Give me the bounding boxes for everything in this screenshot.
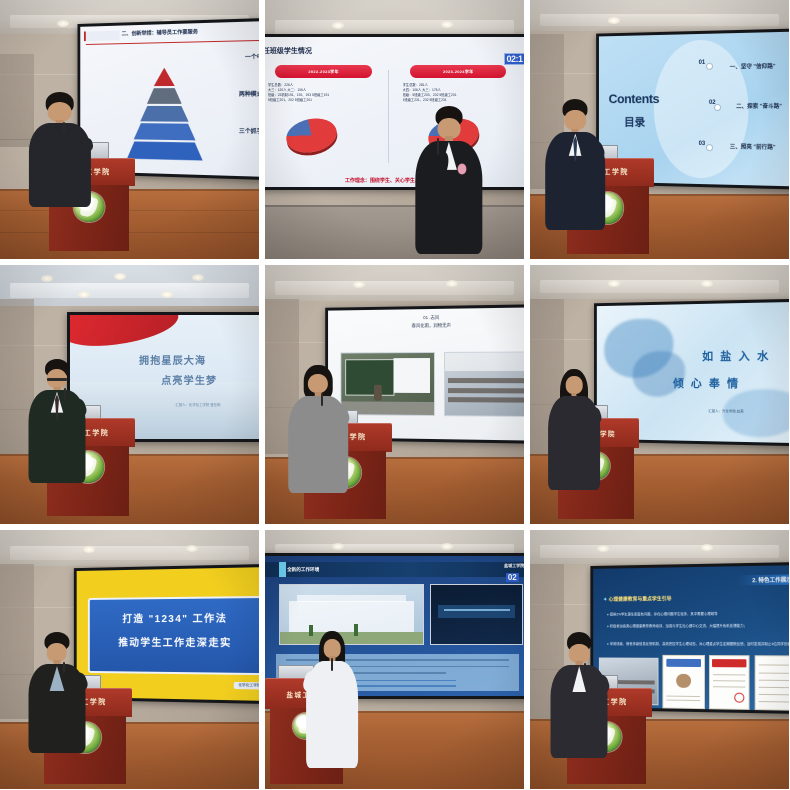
slide-line-bottom: 倾 心 奉 情 [673,376,740,392]
contents-heading-cn: 目录 [624,114,645,130]
photo-tile-7[interactable]: 打造 "1234" 工作法 推动学生工作走深走实 化学化工学院 盐城工学院 [0,530,259,789]
presenter-3 [546,106,606,230]
bullet-text: 积极参加各类心理健康教育教师培训，加强与学生社心健中心交流，大幅提升危机处理能力… [610,623,747,627]
red-ribbon-decor [70,315,181,351]
pyramid-label-3: 三个抓手 [238,127,259,136]
photo-tile-4[interactable]: 拥抱星辰大海 点亮学生梦 汇报人：化学化工学院 曹亚明 盐城工学院 [0,265,259,524]
microphone-icon [64,388,66,400]
photo-tile-8[interactable]: 全新的工作环境 盐城工学院 02 [265,530,524,789]
contents-num-3: 03 [699,141,706,147]
slide-certificate [709,655,750,709]
photo-tile-2[interactable]: 任班级学生情况 02:1 2022-2023学年 学生总数：226人 大三：12… [265,0,524,259]
slide-section-number: 01 .志风 春风化雨，润物无声 [328,313,524,331]
slide-title: 任班级学生情况 [265,46,522,56]
panel-line: 5班级工231、232 5班级工231 [403,98,517,103]
slide-logo-text: 盐城工学院 [504,563,524,569]
slide-photo-1: 二十人精神学习 [340,352,435,416]
slide-photo-2: 晨读 [444,352,524,418]
projection-screen-7: 打造 "1234" 工作法 推动学生工作走深走实 化学化工学院 [74,564,259,704]
panel-title: 2023-2024学年 [410,65,506,78]
glasses-icon [47,378,68,381]
contents-num-2: 02 [709,100,716,106]
microphone-icon [584,663,586,675]
slide-tag: 化学化工学院 [234,682,259,690]
slide-bullet-2: ▸ 积极参加各类心理健康教育教师培训，加强与学生社心健中心交流，大幅提升危机处理… [607,622,789,628]
panel-2022: 2022-2023学年 学生总数：226人 大三：120人 大二：106人 班级… [265,61,387,178]
slide-line-2: 点亮学生梦 [161,372,217,387]
photo-tile-1[interactable]: 二、创新举措：辅导员工作要服务 一个中心 两种模式 三个抓手 [0,0,259,259]
slide-ribbon-title: 2. 特色工作展示 [738,574,789,585]
slide-header-bar: 全新的工作环境 [265,562,524,577]
presenter-7 [28,639,85,753]
photo-tile-9[interactable]: 2. 特色工作展示 ✦ 心理健康教育与重点学生引导 ▸ 摸排2%学生源生家庭有问… [530,530,789,789]
panel-title: 2022-2023学年 [275,65,371,78]
section-script-text: 春风化雨，润物无声 [328,321,524,331]
slide-line-2: 推动学生工作走深走实 [77,634,259,649]
photo-tile-5[interactable]: 01 .志风 春风化雨，润物无声 二十人精神学习 [265,265,524,524]
pie-chart-left [283,114,339,157]
slide-subtitle: 汇报人：汽车学院 赵燕 [708,409,743,414]
slide-poster [663,655,705,709]
slide-line-top: 如 盐 入 水 [702,348,770,365]
bullet-text: 摸排2%学生源生家庭有问题，存在心理问题学生较多，其中需要心理疏导 [610,612,718,617]
presenter-1 [28,98,90,207]
slide-bullet-3: ▸ 采用班级、宿舍多级信息反馈机制，高效把控学生心理动态，对心理重点学生定期跟踪… [607,641,789,646]
contents-item-1: 一、坚守 "信仰路" [730,61,776,70]
contents-num-1: 01 [699,60,706,66]
contents-heading-en: Contents [609,91,660,106]
projection-screen-2: 任班级学生情况 02:1 2022-2023学年 学生总数：226人 大三：12… [265,34,524,190]
flower-badge [458,164,465,174]
presenter-4 [28,366,85,483]
slide-footer: 工作理念：围绕学生、关心学生、服务学生！ [265,177,524,184]
ink-wash-decor [723,390,789,439]
slide-heading: ✦ 心理健康教育与重点学生引导 [603,595,671,603]
countdown-timer: 02 [506,573,519,582]
slide-table [754,655,789,710]
microphone-icon [63,662,65,673]
photo-tile-6[interactable]: 如 盐 入 水 倾 心 奉 情 汇报人：汽车学院 赵燕 盐城工学院 [530,265,789,524]
slide-photo-night [430,584,524,645]
photo-grid: 二、创新举措：辅导员工作要服务 一个中心 两种模式 三个抓手 [0,0,790,790]
slide-subtitle: 汇报人：化学化工学院 曹亚明 [175,402,220,407]
slide-bullet-1: ▸ 摸排2%学生源生家庭有问题，存在心理问题学生较多，其中需要心理疏导 [607,610,789,616]
pyramid-label-2: 两种模式 [238,89,259,97]
panel-lines: 学生总数：281人 大四：106人 大三：175人 班级：5班级工203、202… [403,83,517,103]
presenter-5 [288,369,348,493]
contents-item-3: 三、照亮 "前行路" [730,143,776,152]
presenter-6 [548,371,600,490]
slide-title: 二、创新举措：辅导员工作要服务 [121,26,259,37]
panel-lines: 学生总数：226人 大三：120人 大二：106人 班级：23机制191、192… [268,83,382,103]
pyramid-label-1: 一个中心 [244,52,259,61]
presenter-9 [551,639,608,758]
slide-title: 全新的工作环境 [287,567,319,573]
photo-tile-3[interactable]: Contents 目录 01 一、坚守 "信仰路" 02 二、探索 "奋斗路" … [530,0,789,259]
presenter-2 [415,114,482,254]
presenter-8 [306,634,358,769]
slide-line-1: 拥抱星辰大海 [139,352,206,367]
slide-line-1: 打造 "1234" 工作法 [77,610,259,626]
bullet-text: 采用班级、宿舍多级信息反馈机制，高效把控学生心理动态，对心理重点学生定期跟踪反馈… [610,642,789,646]
panel-line: 5班级工201、202 5班级工201 [268,98,382,103]
pyramid-diagram [127,67,203,161]
microphone-icon [331,658,333,671]
slide-heading-text: 心理健康教育与重点学生引导 [609,596,672,603]
microphone-icon [321,393,323,405]
contents-item-2: 二、探索 "奋斗路" [736,101,782,109]
